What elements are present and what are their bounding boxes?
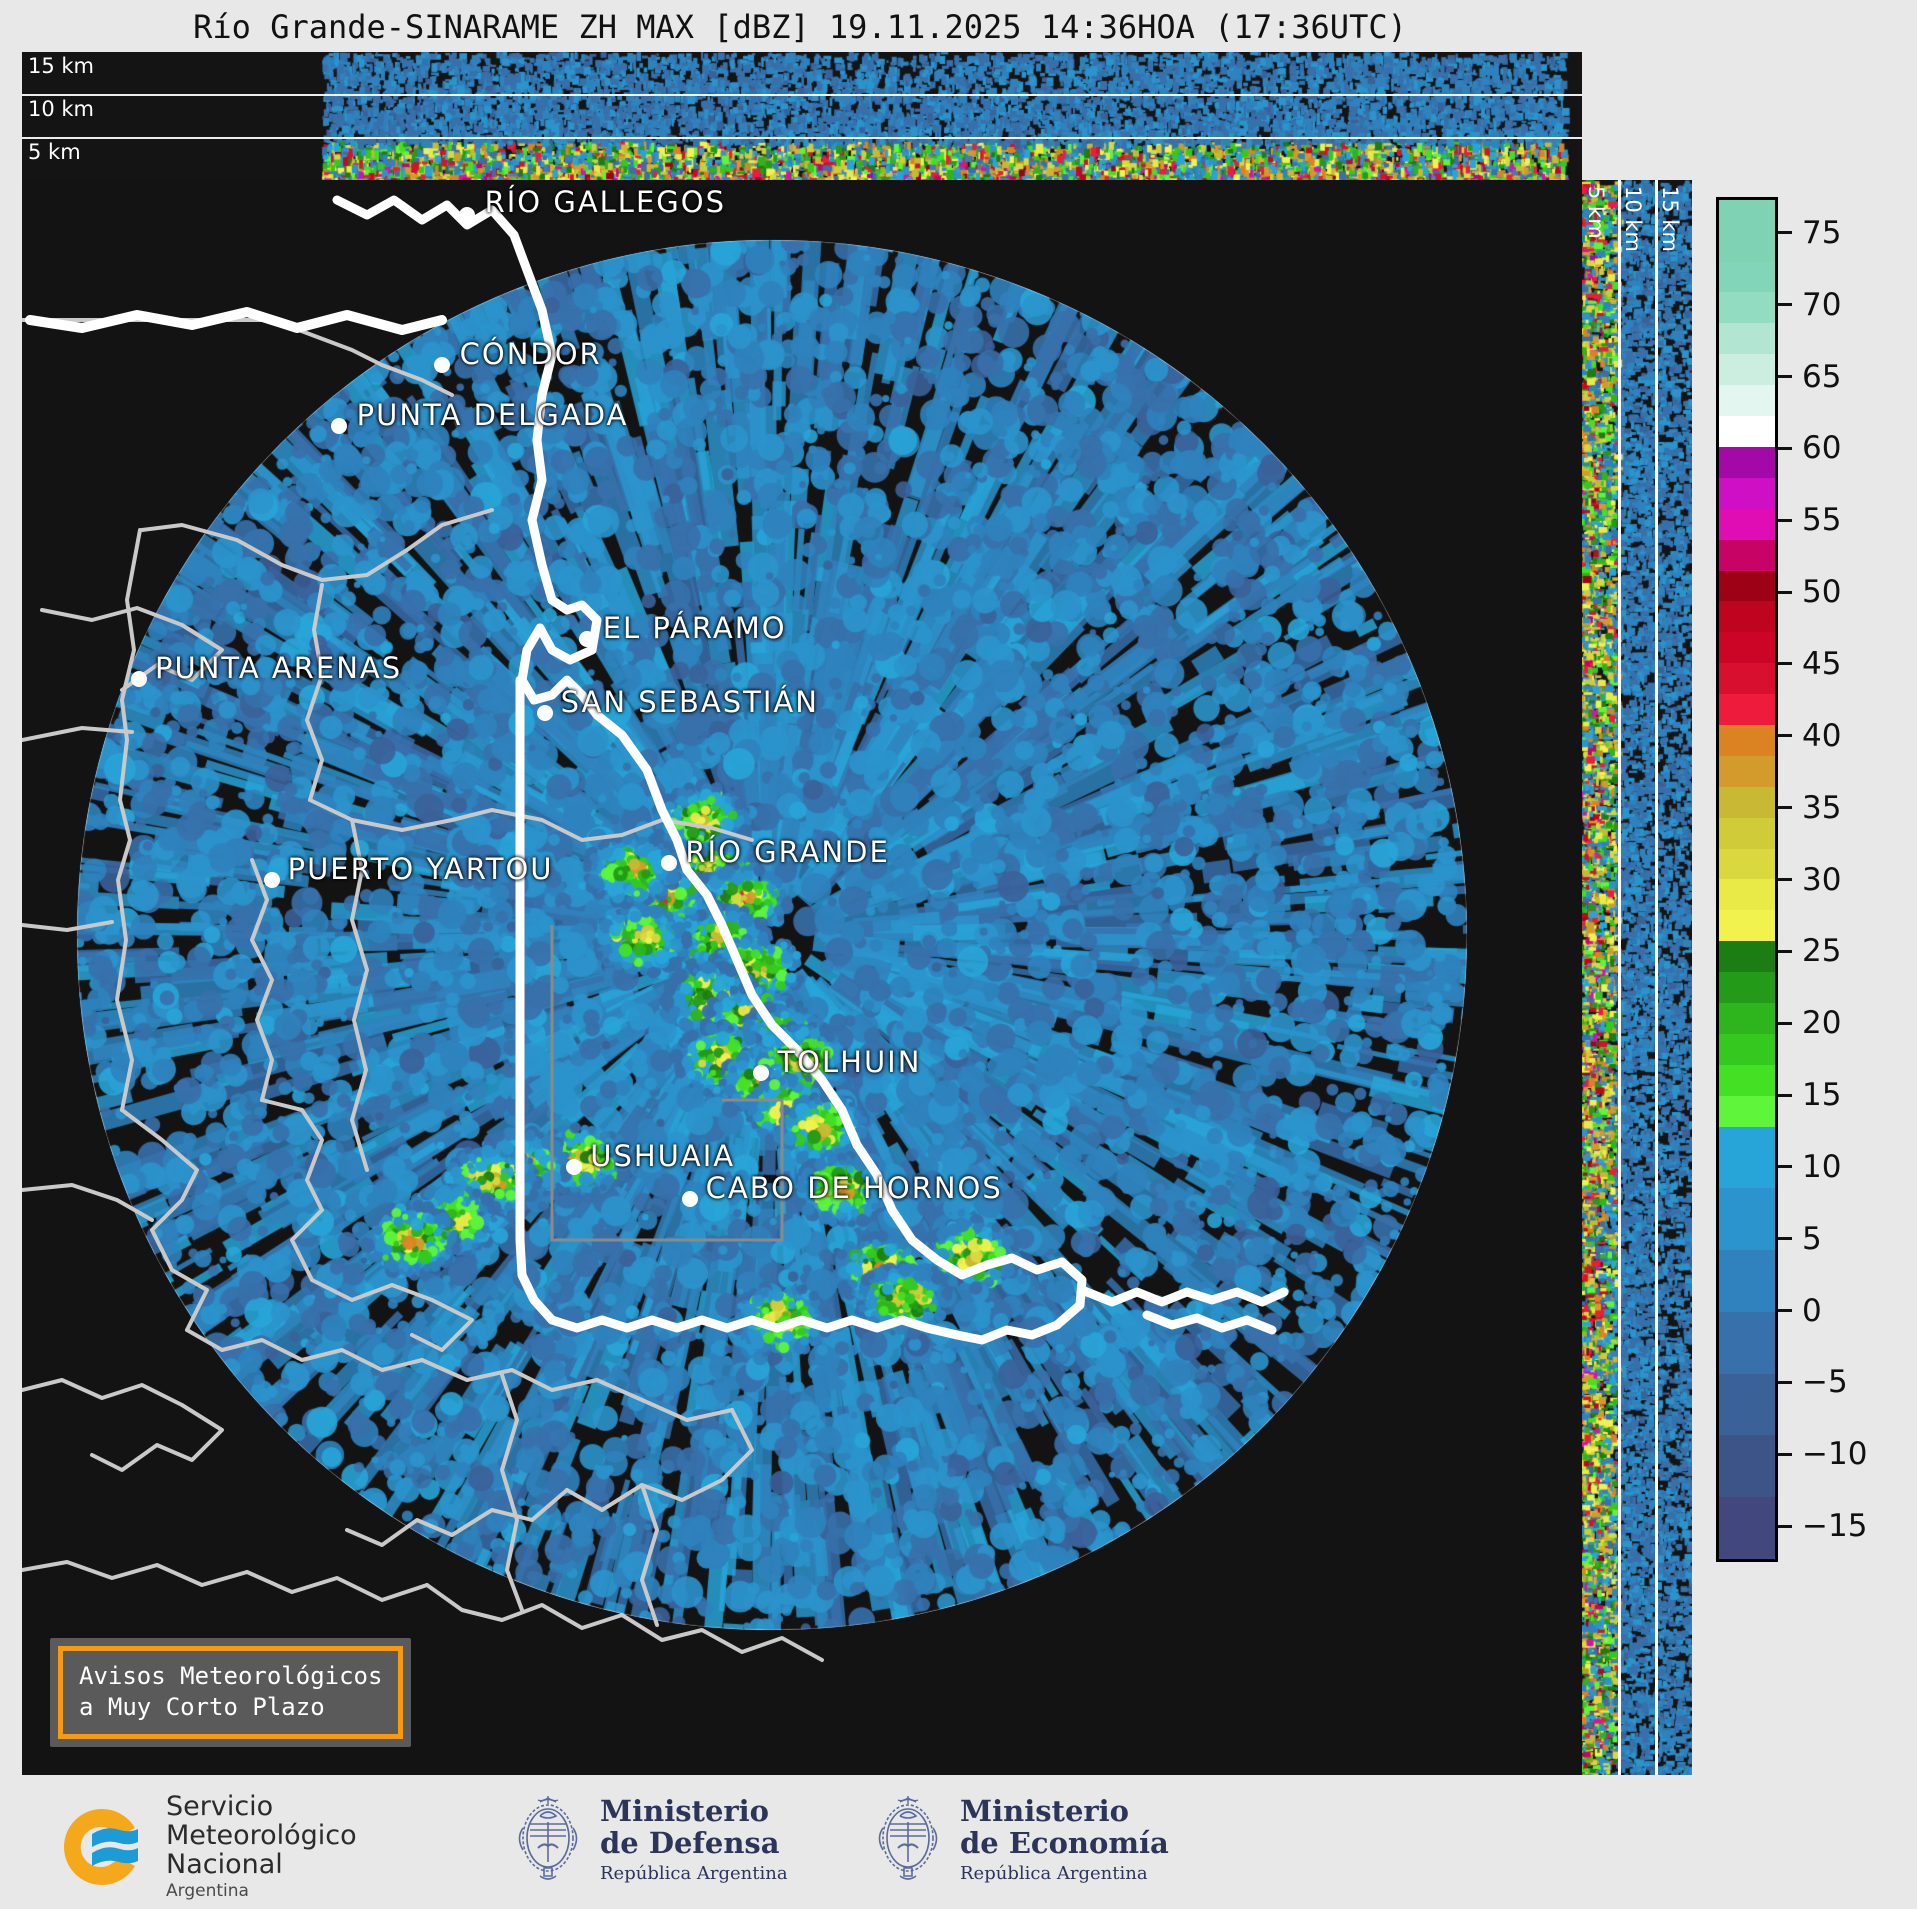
city-label: CÓNDOR [460,337,602,371]
city-label: PUNTA ARENAS [155,651,402,685]
economia-subtitle: República Argentina [960,1863,1169,1884]
colorbar-tick-label: 65 [1802,359,1841,395]
colorbar-segment [1719,509,1775,540]
colorbar-segment [1719,540,1775,571]
colorbar-tick-mark [1778,806,1792,809]
colorbar-tick-label: 15 [1802,1077,1841,1113]
economia-line-1: Ministerio [960,1796,1169,1828]
height-label-10km: 10 km [28,97,94,121]
colorbar-tick-label: −15 [1802,1508,1867,1544]
colorbar-tick: 35 [1778,790,1841,826]
colorbar-segment [1719,1405,1775,1436]
colorbar-tick-mark [1778,1237,1792,1240]
colorbar-tick-mark [1778,1309,1792,1312]
smn-line-2: Meteorológico [166,1821,357,1850]
alert-legend-box[interactable]: Avisos Meteorológicos a Muy Corto Plazo [50,1638,411,1747]
colorbar-segment [1719,1281,1775,1312]
city-label: SAN SEBASTIÁN [561,685,819,719]
colorbar-tick-mark [1778,950,1792,953]
city-label: CABO DE HORNOS [706,1171,1003,1205]
city-label: RÍO GRANDE [685,835,889,869]
footer-logos: Servicio Meteorológico Nacional Argentin… [0,1778,1917,1909]
city-marker-dot[interactable] [566,1159,582,1175]
colorbar-segment [1719,972,1775,1003]
colorbar-tick-mark [1778,231,1792,234]
city-marker-dot[interactable] [264,872,280,888]
argentina-coat-of-arms-icon [510,1792,586,1888]
colorbar-segment [1719,200,1775,231]
argentina-coat-of-arms-icon-2 [870,1792,946,1888]
colorbar-tick-label: 75 [1802,215,1841,251]
colorbar-segment [1719,1157,1775,1188]
colorbar-segment [1719,787,1775,818]
colorbar-segment [1719,1034,1775,1065]
defensa-subtitle: República Argentina [600,1863,788,1884]
colorbar-segment [1719,941,1775,972]
colorbar-segment [1719,1096,1775,1127]
colorbar-tick-label: 30 [1802,862,1841,898]
colorbar-tick-label: 55 [1802,502,1841,538]
city-label: TOLHUIN [777,1045,921,1079]
colorbar-segment [1719,663,1775,694]
colorbar-segment [1719,910,1775,941]
colorbar-segment [1719,385,1775,416]
radar-ppi-panel[interactable]: RÍO GALLEGOSCÓNDORPUNTA DELGADAPUNTA ARE… [22,180,1582,1775]
colorbar-tick-mark [1778,1094,1792,1097]
city-marker-dot[interactable] [131,671,147,687]
city-label: EL PÁRAMO [603,611,787,645]
colorbar-segment [1719,1528,1775,1559]
colorbar-segment [1719,818,1775,849]
colorbar-tick-label: 70 [1802,287,1841,323]
economia-line-2: de Economía [960,1828,1169,1860]
colorbar-segment [1719,694,1775,725]
colorbar-tick-mark [1778,662,1792,665]
colorbar-segment [1719,632,1775,663]
alert-legend-inner: Avisos Meteorológicos a Muy Corto Plazo [58,1646,403,1739]
colorbar-tick-mark [1778,519,1792,522]
colorbar-segment [1719,601,1775,632]
city-marker-dot[interactable] [331,418,347,434]
smn-logo-icon [52,1801,152,1893]
colorbar-tick-label: 20 [1802,1005,1841,1041]
city-marker-dot[interactable] [537,705,553,721]
colorbar-segment [1719,292,1775,323]
colorbar-tick: −5 [1778,1364,1848,1400]
colorbar-tick-label: −5 [1802,1364,1848,1400]
colorbar-tick-mark [1778,447,1792,450]
colorbar-tick: 45 [1778,646,1841,682]
city-marker-dot[interactable] [661,855,677,871]
colorbar-tick-label: 50 [1802,574,1841,610]
colorbar-tick: 15 [1778,1077,1841,1113]
colorbar-tick-mark [1778,1525,1792,1528]
colorbar-gradient [1716,197,1778,1562]
colorbar-segment [1719,879,1775,910]
colorbar-tick-mark [1778,303,1792,306]
colorbar-segment [1719,231,1775,262]
colorbar-tick: 5 [1778,1221,1822,1257]
colorbar-tick-label: 25 [1802,933,1841,969]
height-gridline-right-15km [1655,180,1658,1775]
colorbar-segment [1719,1497,1775,1528]
colorbar-tick-label: −10 [1802,1436,1867,1472]
colorbar-tick: 0 [1778,1293,1822,1329]
colorbar-tick: 60 [1778,430,1841,466]
cross-section-top-panel: 15 km 10 km 5 km [22,52,1582,180]
colorbar-tick: 70 [1778,287,1841,323]
colorbar-tick-label: 0 [1802,1293,1822,1329]
colorbar-segment [1719,756,1775,787]
colorbar-segment [1719,1312,1775,1343]
height-gridline-right-10km [1618,180,1621,1775]
colorbar-tick: −15 [1778,1508,1867,1544]
colorbar-tick-mark [1778,1453,1792,1456]
alert-line-1: Avisos Meteorológicos [79,1661,382,1693]
colorbar-tick-mark [1778,734,1792,737]
colorbar-segment [1719,1065,1775,1096]
colorbar-tick-label: 5 [1802,1221,1822,1257]
colorbar-tick: 25 [1778,933,1841,969]
colorbar: 757065605550454035302520151050−5−10−15 [1716,197,1778,1562]
colorbar-tick: 50 [1778,574,1841,610]
logo-ministerio-economia: Ministerio de Economía República Argenti… [870,1792,1169,1888]
colorbar-segment [1719,447,1775,478]
city-label: PUNTA DELGADA [357,398,629,432]
colorbar-tick-label: 60 [1802,430,1841,466]
colorbar-segment [1719,571,1775,602]
colorbar-tick: 20 [1778,1005,1841,1041]
colorbar-tick-label: 45 [1802,646,1841,682]
city-label: USHUAIA [590,1139,735,1173]
colorbar-tick: 75 [1778,215,1841,251]
height-gridline-10km [22,94,1582,96]
page-title: Río Grande-SINARAME ZH MAX [dBZ] 19.11.2… [0,8,1600,46]
colorbar-segment [1719,1127,1775,1158]
colorbar-tick-mark [1778,878,1792,881]
smn-subtitle: Argentina [166,1881,357,1901]
cross-section-right-panel: 5 km 10 km 15 km [1582,180,1692,1775]
city-label: PUERTO YARTOU [288,852,554,886]
city-marker-dot[interactable] [682,1191,698,1207]
colorbar-tick-mark [1778,375,1792,378]
colorbar-segment [1719,323,1775,354]
colorbar-tick-mark [1778,1165,1792,1168]
height-label-5km: 5 km [28,140,81,164]
colorbar-segment [1719,1219,1775,1250]
colorbar-tick: 40 [1778,718,1841,754]
colorbar-tick: 55 [1778,502,1841,538]
smn-line-3: Nacional [166,1850,357,1879]
city-marker-dot[interactable] [753,1065,769,1081]
height-label-right-10km: 10 km [1621,186,1645,252]
alert-line-2: a Muy Corto Plazo [79,1692,382,1724]
colorbar-tick-mark [1778,1381,1792,1384]
colorbar-segment [1719,1374,1775,1405]
colorbar-tick-mark [1778,591,1792,594]
height-label-15km: 15 km [28,54,94,78]
colorbar-segment [1719,262,1775,293]
colorbar-tick-label: 10 [1802,1149,1841,1185]
colorbar-segment [1719,849,1775,880]
height-label-right-15km: 15 km [1658,186,1682,252]
colorbar-segment [1719,354,1775,385]
colorbar-tick-label: 35 [1802,790,1841,826]
colorbar-segment [1719,478,1775,509]
colorbar-segment [1719,1003,1775,1034]
city-label: RÍO GALLEGOS [485,185,726,219]
colorbar-tick-label: 40 [1802,718,1841,754]
colorbar-segment [1719,725,1775,756]
colorbar-tick: 10 [1778,1149,1841,1185]
city-marker-dot[interactable] [434,357,450,373]
colorbar-segment [1719,1466,1775,1497]
colorbar-segment [1719,1250,1775,1281]
city-marker-dot[interactable] [459,207,475,223]
logo-ministerio-defensa: Ministerio de Defensa República Argentin… [510,1792,788,1888]
colorbar-segment [1719,1343,1775,1374]
colorbar-tick-mark [1778,1022,1792,1025]
height-gridline-5km [22,137,1582,139]
logo-smn: Servicio Meteorológico Nacional Argentin… [52,1792,357,1901]
colorbar-segment [1719,416,1775,447]
smn-line-1: Servicio [166,1792,357,1821]
city-marker-dot[interactable] [579,631,595,647]
colorbar-segment [1719,1435,1775,1466]
colorbar-tick: 65 [1778,359,1841,395]
defensa-line-2: de Defensa [600,1828,788,1860]
colorbar-tick: −10 [1778,1436,1867,1472]
colorbar-ticks: 757065605550454035302520151050−5−10−15 [1778,197,1917,1562]
height-label-right-5km: 5 km [1584,186,1608,239]
colorbar-tick: 30 [1778,862,1841,898]
colorbar-segment [1719,1188,1775,1219]
defensa-line-1: Ministerio [600,1796,788,1828]
